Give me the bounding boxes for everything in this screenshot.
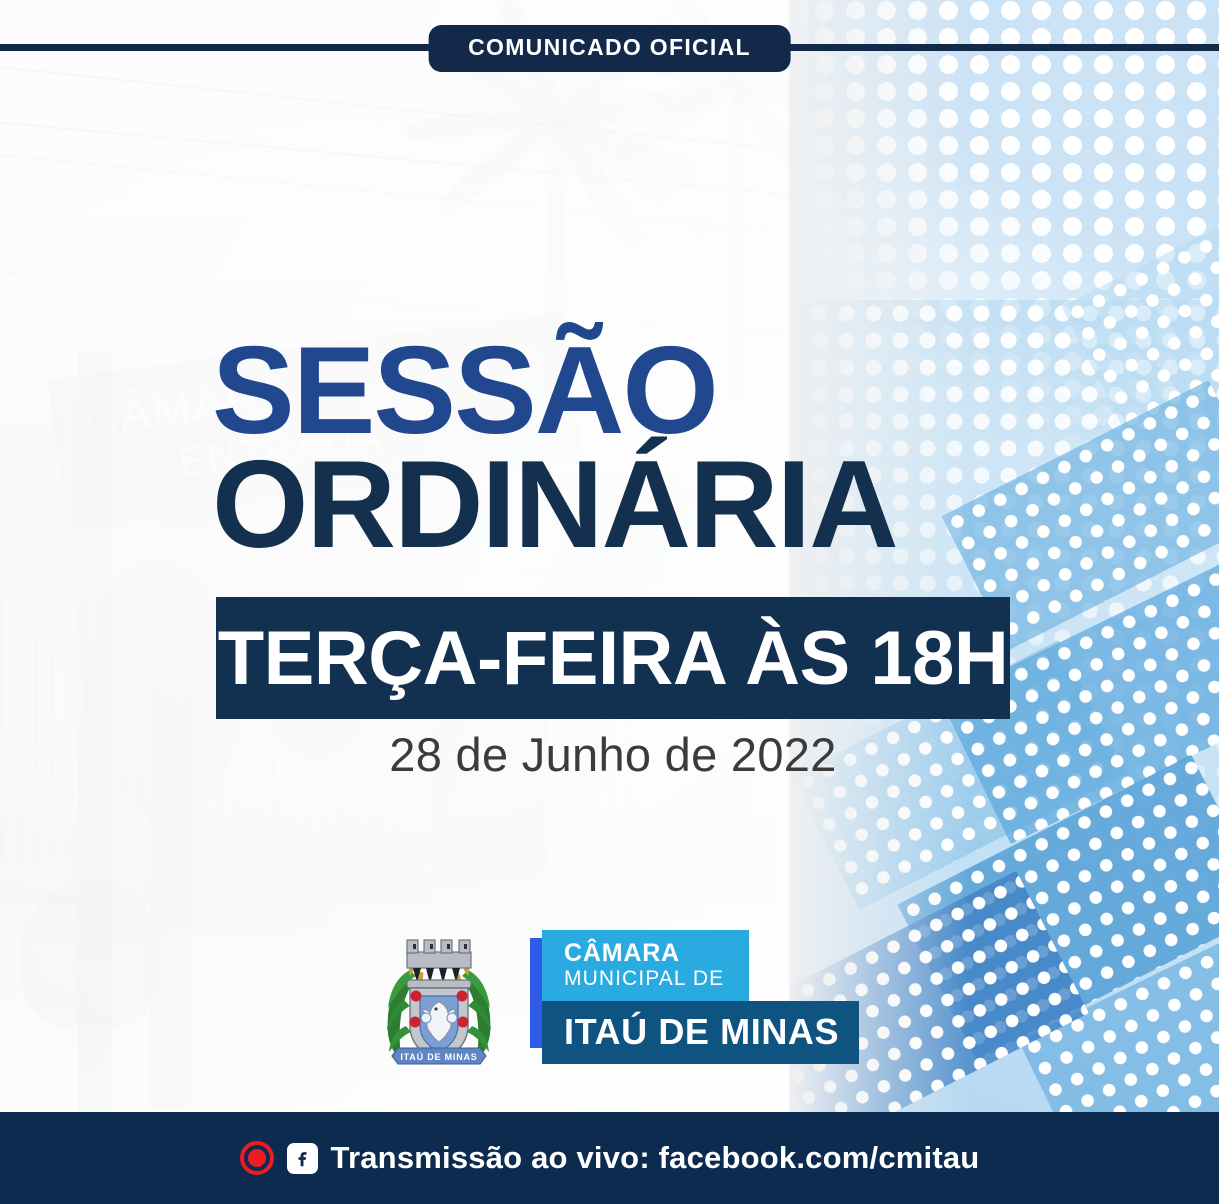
livestream-text: Transmissão ao vivo: facebook.com/cmitau [331,1140,980,1176]
ribbon: ITAÚ DE MINAS [392,1048,486,1064]
day-time-text: TERÇA-FEIRA ÀS 18H [218,615,1008,702]
brand-line-camara: CÂMARA [564,941,749,966]
facebook-icon[interactable] [287,1143,318,1174]
svg-text:ITAÚ DE MINAS: ITAÚ DE MINAS [400,1051,477,1062]
brand-top-block: CÂMARA MUNICIPAL DE [542,930,749,1001]
day-time-banner: TERÇA-FEIRA ÀS 18H [216,597,1010,719]
headline-line-ordinaria: ORDINÁRIA [212,448,897,562]
brand-line-city: ITAÚ DE MINAS [564,1014,859,1050]
headline-block: SESSÃO ORDINÁRIA [212,336,897,562]
official-notice-badge: COMUNICADO OFICIAL [428,25,791,72]
brand-bottom-block: ITAÚ DE MINAS [542,1001,859,1064]
brand-wordmark: CÂMARA MUNICIPAL DE ITAÚ DE MINAS [530,930,859,1064]
footer-bar: Transmissão ao vivo: facebook.com/cmitau [0,1112,1219,1204]
live-record-icon [240,1141,274,1175]
coat-of-arms-icon: ITAÚ DE MINAS [376,930,502,1068]
logo-lockup: ITAÚ DE MINAS CÂMARA MUNICIPAL DE ITAÚ D… [376,930,859,1068]
headline-line-sessao: SESSÃO [212,336,897,448]
date-text: 28 de Junho de 2022 [216,727,1010,782]
brand-accent-bar [530,938,542,1048]
brand-line-municipal: MUNICIPAL DE [564,966,749,992]
poster-canvas: CÂMARA ENTRADA COMUNICADO OFICIAL S [0,0,1219,1204]
mural-crown [407,940,471,988]
